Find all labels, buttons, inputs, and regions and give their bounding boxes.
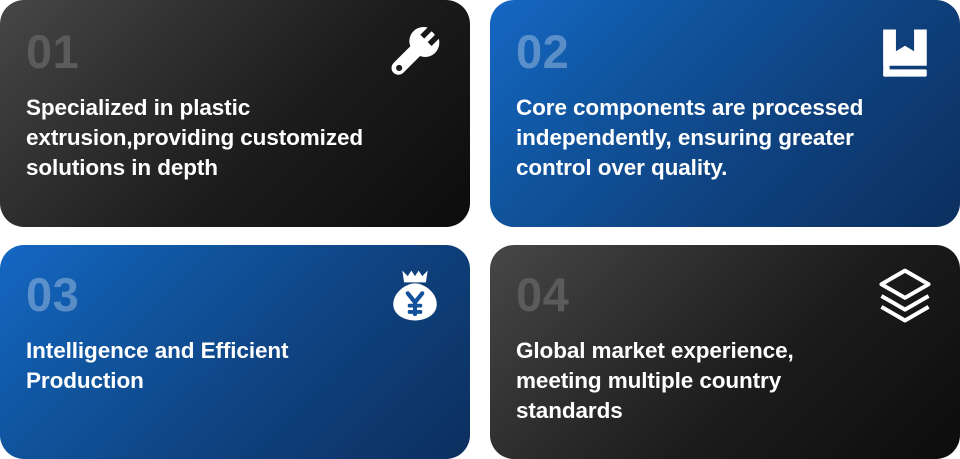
feature-card-03[interactable]: 03 Intelligence and Efficient Production: [0, 245, 470, 459]
card-number-01: 01: [26, 28, 444, 75]
card-text-04: Global market experience, meeting multip…: [516, 336, 934, 426]
card-number-04: 04: [516, 271, 934, 318]
feature-card-01[interactable]: 01 Specialized in plastic extrusion,prov…: [0, 0, 470, 227]
card-text-01: Specialized in plastic extrusion,providi…: [26, 93, 444, 183]
card-text-03: Intelligence and Efficient Production: [26, 336, 444, 396]
card-number-02: 02: [516, 28, 934, 75]
feature-card-grid: 01 Specialized in plastic extrusion,prov…: [0, 0, 960, 459]
card-text-02: Core components are processed independen…: [516, 93, 934, 183]
feature-card-04[interactable]: 04 Global market experience, meeting mul…: [490, 245, 960, 459]
feature-card-02[interactable]: 02 Core components are processed indepen…: [490, 0, 960, 227]
card-number-03: 03: [26, 271, 444, 318]
